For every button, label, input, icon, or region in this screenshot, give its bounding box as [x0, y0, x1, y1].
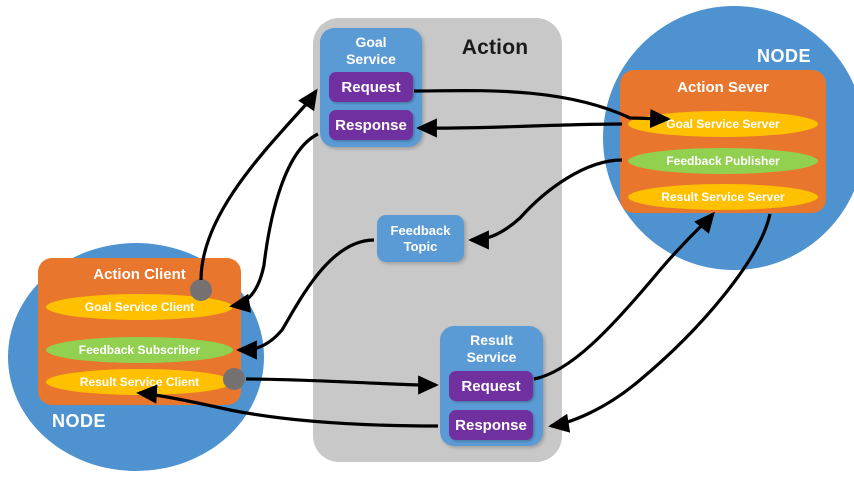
goal-service-request-chip[interactable]: Request	[329, 72, 413, 102]
connector-dot-result-client	[223, 368, 245, 390]
result-service-request-chip[interactable]: Request	[449, 371, 533, 401]
pill-goal-service-server[interactable]: Goal Service Server	[628, 111, 818, 137]
goal-service-box: Goal Service Request Response	[320, 28, 422, 147]
diagram-canvas: Action Action Client Goal Service Client…	[0, 0, 854, 480]
feedback-topic-line1: Feedback	[391, 223, 451, 238]
goal-service-title: Goal Service	[320, 34, 422, 68]
pill-result-service-server[interactable]: Result Service Server	[628, 184, 818, 210]
pill-feedback-publisher[interactable]: Feedback Publisher	[628, 148, 818, 174]
feedback-topic-line2: Topic	[404, 239, 438, 254]
arrow-goal-response-to-client	[232, 134, 318, 306]
result-service-title-line2: Service	[467, 349, 517, 365]
action-server-panel: Action Sever Goal Service Server Feedbac…	[620, 70, 826, 213]
result-service-response-chip[interactable]: Response	[449, 410, 533, 440]
pill-result-service-client[interactable]: Result Service Client	[46, 369, 233, 395]
goal-service-response-chip[interactable]: Response	[329, 110, 413, 140]
result-service-title-line1: Result	[470, 332, 513, 348]
connector-dot-goal-client	[190, 279, 212, 301]
action-client-title: Action Client	[38, 266, 241, 283]
node-client-label: NODE	[52, 411, 106, 432]
node-server-label: NODE	[757, 46, 811, 67]
result-service-box: Result Service Request Response	[440, 326, 543, 446]
goal-service-title-line2: Service	[346, 51, 396, 67]
pill-feedback-subscriber[interactable]: Feedback Subscriber	[46, 337, 233, 363]
arrow-goal-client-to-request	[201, 91, 316, 280]
result-service-title: Result Service	[440, 332, 543, 366]
action-group-label: Action	[440, 36, 550, 60]
goal-service-title-line1: Goal	[355, 34, 386, 50]
feedback-topic-text: Feedback Topic	[391, 223, 451, 255]
action-server-title: Action Sever	[620, 79, 826, 96]
action-client-panel: Action Client Goal Service Client Feedba…	[38, 258, 241, 405]
feedback-topic-box[interactable]: Feedback Topic	[377, 215, 464, 262]
